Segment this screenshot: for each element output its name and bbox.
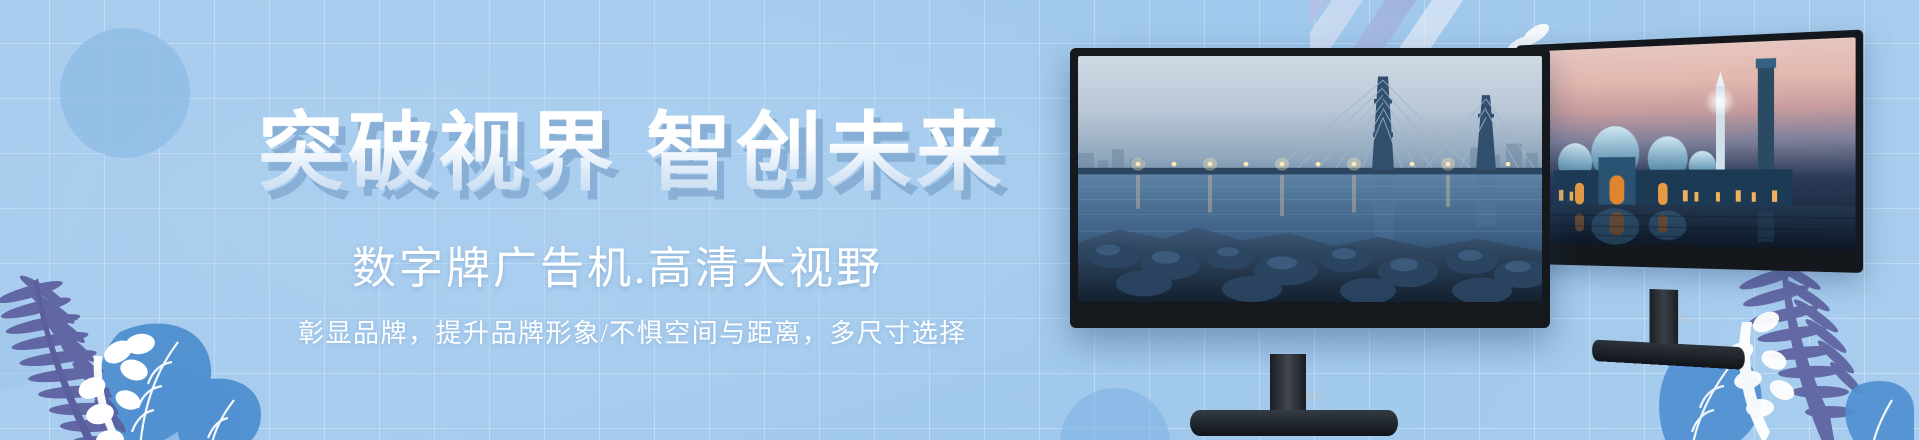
back-monitor-bezel — [1516, 30, 1863, 273]
brand-logo: AOC — [1070, 391, 1550, 403]
product-monitors: AOC — [1060, 0, 1920, 440]
back-monitor-stand-base — [1592, 339, 1745, 369]
brand-logo: AOC — [1516, 307, 1863, 332]
subtitle: 数字牌广告机.高清大视野 — [352, 232, 883, 296]
back-monitor: AOC — [1516, 30, 1863, 337]
front-monitor-stand-base — [1190, 410, 1398, 436]
promo-banner: 突破视界 智创未来 数字牌广告机.高清大视野 彰显品牌，提升品牌形象/不惧空间与… — [0, 0, 1920, 440]
front-monitor-bezel — [1070, 48, 1550, 328]
back-monitor-screen — [1522, 37, 1856, 249]
tagline: 彰显品牌，提升品牌形象/不惧空间与距离，多尺寸选择 — [298, 313, 967, 350]
back-monitor-stand-neck — [1650, 289, 1679, 348]
copy-block: 突破视界 智创未来 数字牌广告机.高清大视野 彰显品牌，提升品牌形象/不惧空间与… — [0, 0, 1100, 440]
headline: 突破视界 智创未来 — [258, 82, 1006, 207]
front-monitor-stand-neck — [1270, 354, 1306, 416]
front-monitor: AOC — [1070, 48, 1550, 408]
front-monitor-screen — [1078, 56, 1542, 302]
